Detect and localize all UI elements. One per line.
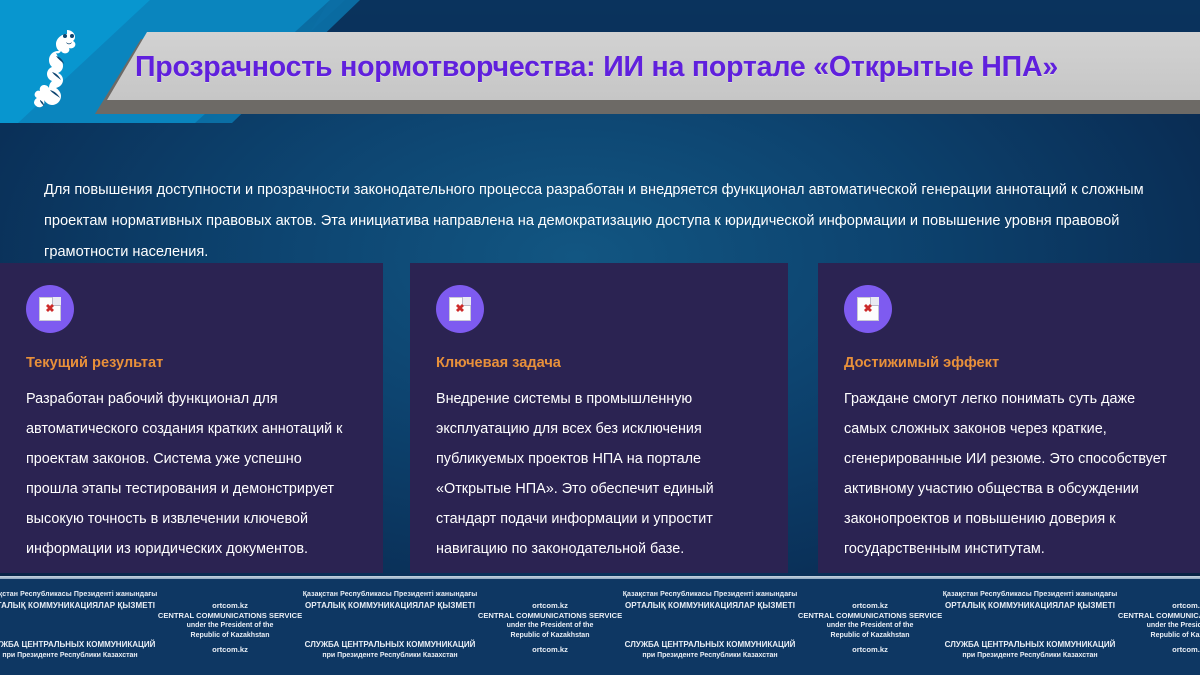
footer-org-kz: Қазақстан Республикасы Президенті жанынд… [1190, 589, 1200, 611]
footer-watermark-tile: Қазақстан Республикасы Президенті жанынд… [230, 579, 550, 675]
card-title: Достижимый эффект [844, 355, 1174, 371]
broken-image-placeholder-icon: ✖ [844, 285, 892, 333]
cards-row: ✖ Текущий результат Разработан рабочий ф… [0, 263, 1200, 573]
card-achievable-effect: ✖ Достижимый эффект Граждане смогут легк… [818, 263, 1200, 573]
card-key-task: ✖ Ключевая задача Внедрение системы в пр… [410, 263, 788, 573]
slide-root: Прозрачность нормотворчества: ИИ на порт… [0, 0, 1200, 675]
card-body: Внедрение системы в промышленную эксплуа… [436, 384, 762, 564]
broken-image-placeholder-icon: ✖ [436, 285, 484, 333]
page-title: Прозрачность нормотворчества: ИИ на порт… [135, 42, 1180, 92]
band-navy-dark-shape [250, 0, 1200, 36]
footer-watermark-strip: Қазақстан Республикасы Президенті жанынд… [0, 579, 1200, 675]
footer-watermark-tile: Қазақстан Республикасы Президенті жанынд… [550, 579, 870, 675]
snow-leopard-emblem-icon [26, 22, 90, 122]
footer-url: ortcom.kz [1030, 601, 1200, 610]
card-title: Текущий результат [26, 355, 357, 371]
card-title: Ключевая задача [436, 355, 762, 371]
footer-watermark-tile: Қазақстан Республикасы Президенті жанынд… [0, 579, 230, 675]
card-current-result: ✖ Текущий результат Разработан рабочий ф… [0, 263, 383, 573]
card-body: Граждане смогут легко понимать суть даже… [844, 384, 1174, 564]
footer-url: ortcom.kz [1030, 645, 1200, 654]
intro-paragraph: Для повышения доступности и прозрачности… [44, 175, 1160, 268]
broken-image-placeholder-icon: ✖ [26, 285, 74, 333]
card-body: Разработан рабочий функционал для автома… [26, 384, 357, 564]
footer-org-ru: СЛУЖБА ЦЕНТРАЛЬНЫХ КОММУНИКАЦИЙпри Прези… [1190, 639, 1200, 661]
footer-watermark-tile: Қазақстан Республикасы Президенті жанынд… [1190, 579, 1200, 675]
footer-org-en: CENTRAL COMMUNICATIONS SERVICEunder the … [1030, 611, 1200, 641]
footer-watermark-tile: Қазақстан Республикасы Президенті жанынд… [870, 579, 1190, 675]
